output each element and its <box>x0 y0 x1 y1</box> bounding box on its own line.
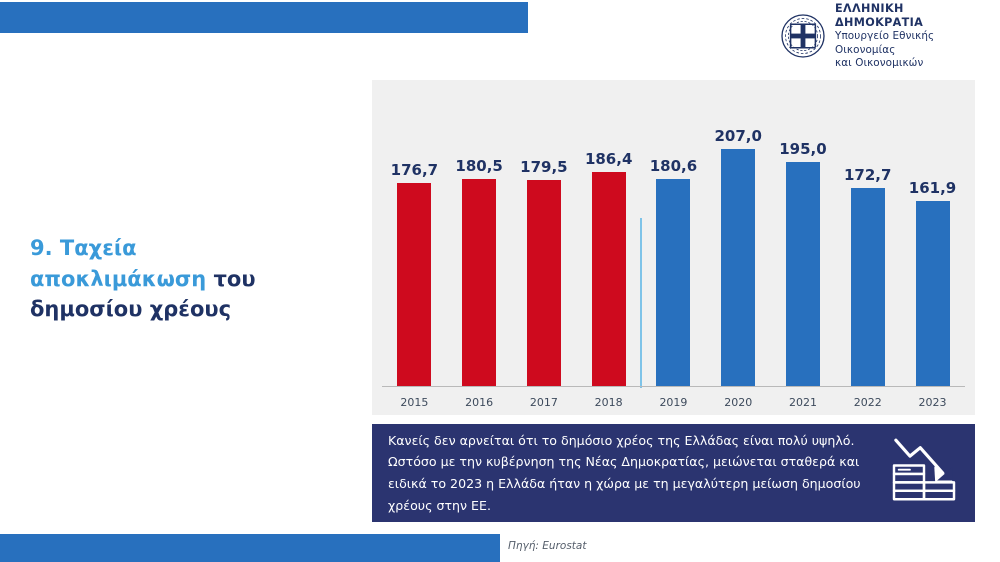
x-axis-tick-label: 2023 <box>901 390 965 409</box>
bar <box>786 162 820 387</box>
period-divider-line <box>640 218 642 388</box>
bar-group: 180,6 <box>641 80 705 387</box>
slide-root: ΕΛΛΗΝΙΚΗ ΔΗΜΟΚΡΑΤΙΑ Υπουργείο Εθνικής Οι… <box>0 0 1000 562</box>
chart-plot-area: 176,7180,5179,5186,4180,6207,0195,0172,7… <box>372 80 975 387</box>
bar-value-label: 176,7 <box>391 161 438 179</box>
bar-value-label: 180,6 <box>650 157 697 175</box>
bar-value-label: 161,9 <box>909 179 956 197</box>
bar <box>462 179 496 387</box>
x-axis-tick-label: 2016 <box>447 390 511 409</box>
bar-group: 179,5 <box>512 80 576 387</box>
bar-group: 172,7 <box>836 80 900 387</box>
page-title: 9. Ταχεία αποκλιμάκωση του δημοσίου χρέο… <box>30 233 310 325</box>
source-note: Πηγή: Eurostat <box>508 540 586 552</box>
bar-group: 186,4 <box>577 80 641 387</box>
x-axis-tick-label: 2019 <box>641 390 705 409</box>
bar-value-label: 186,4 <box>585 150 632 168</box>
x-axis-tick-label: 2021 <box>771 390 835 409</box>
x-axis-tick-label: 2017 <box>512 390 576 409</box>
bar <box>397 183 431 387</box>
bar-value-label: 195,0 <box>779 140 826 158</box>
declining-coins-arrow-icon <box>879 429 975 517</box>
x-axis-tick-label: 2022 <box>836 390 900 409</box>
logo-line-1: ΕΛΛΗΝΙΚΗ ΔΗΜΟΚΡΑΤΙΑ <box>835 2 992 31</box>
bar-group: 176,7 <box>382 80 446 387</box>
bar-group: 207,0 <box>706 80 770 387</box>
ministry-logo-text: ΕΛΛΗΝΙΚΗ ΔΗΜΟΚΡΑΤΙΑ Υπουργείο Εθνικής Οι… <box>835 2 992 71</box>
bar-group: 195,0 <box>771 80 835 387</box>
x-axis-tick-label: 2015 <box>382 390 446 409</box>
bottom-blue-banner <box>0 534 500 562</box>
bar <box>721 149 755 388</box>
bar-group: 180,5 <box>447 80 511 387</box>
chart-bars: 176,7180,5179,5186,4180,6207,0195,0172,7… <box>382 80 965 387</box>
bar-value-label: 180,5 <box>455 157 502 175</box>
logo-line-2: Υπουργείο Εθνικής Οικονομίας <box>835 30 992 57</box>
bar-group: 161,9 <box>901 80 965 387</box>
bar <box>527 180 561 387</box>
bar-value-label: 179,5 <box>520 158 567 176</box>
bar-value-label: 207,0 <box>714 127 761 145</box>
bar-value-label: 172,7 <box>844 166 891 184</box>
greek-coat-of-arms-icon <box>780 13 826 59</box>
logo-line-3: και Οικονομικών <box>835 57 992 70</box>
top-blue-banner <box>0 2 528 33</box>
chart-axis-line <box>382 386 965 387</box>
bar <box>656 179 690 387</box>
bar <box>851 188 885 387</box>
ministry-logo: ΕΛΛΗΝΙΚΗ ΔΗΜΟΚΡΑΤΙΑ Υπουργείο Εθνικής Οι… <box>780 10 992 62</box>
caption-banner: Κανείς δεν αρνείται ότι το δημόσιο χρέος… <box>372 424 975 522</box>
debt-bar-chart: 176,7180,5179,5186,4180,6207,0195,0172,7… <box>372 80 975 415</box>
page-title-accent: 9. Ταχεία αποκλιμάκωση <box>30 236 206 291</box>
chart-x-axis: 201520162017201820192020202120222023 <box>382 390 965 415</box>
bar <box>916 201 950 388</box>
x-axis-tick-label: 2020 <box>706 390 770 409</box>
x-axis-tick-label: 2018 <box>577 390 641 409</box>
bar <box>592 172 626 387</box>
caption-text: Κανείς δεν αρνείται ότι το δημόσιο χρέος… <box>372 430 879 517</box>
